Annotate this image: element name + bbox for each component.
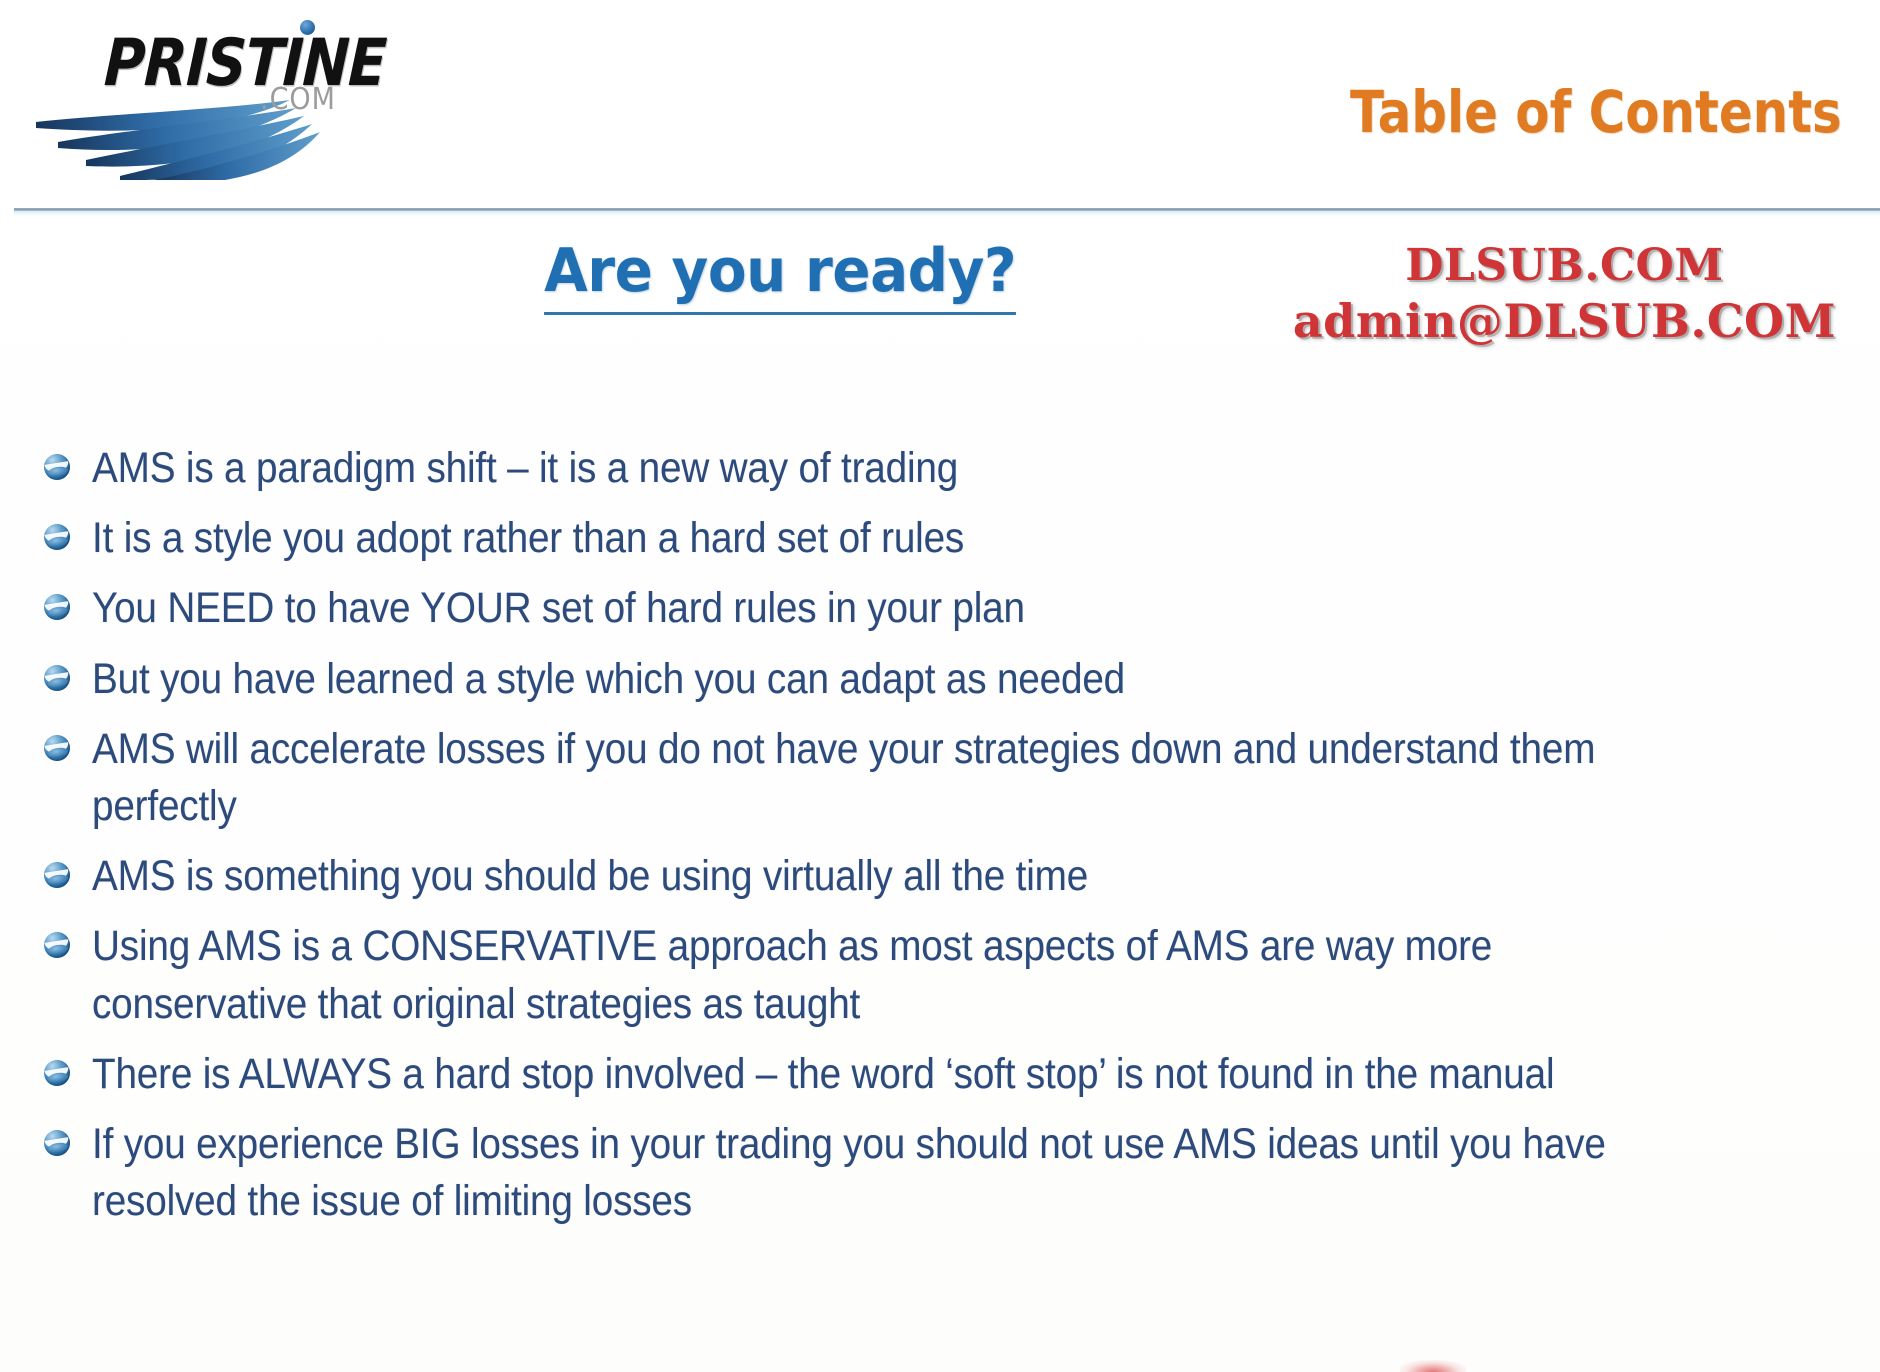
sphere-bullet-icon bbox=[44, 594, 70, 620]
header-title: Table of Contents bbox=[1350, 78, 1842, 146]
logo-wordmark: PRISTINE bbox=[103, 26, 388, 101]
watermark-bottom-remnant bbox=[1400, 1360, 1466, 1372]
list-item-label: AMS will accelerate losses if you do not… bbox=[92, 721, 1669, 835]
list-item-label: But you have learned a style which you c… bbox=[92, 651, 1669, 708]
list-item: AMS is something you should be using vir… bbox=[44, 848, 1844, 905]
list-item: There is ALWAYS a hard stop involved – t… bbox=[44, 1046, 1844, 1103]
list-item: You NEED to have YOUR set of hard rules … bbox=[44, 580, 1844, 637]
slide-title: Are you ready? bbox=[544, 236, 1016, 315]
list-item-label: You NEED to have YOUR set of hard rules … bbox=[92, 580, 1669, 637]
list-item-label: There is ALWAYS a hard stop involved – t… bbox=[92, 1046, 1669, 1103]
list-item: But you have learned a style which you c… bbox=[44, 651, 1844, 708]
sphere-bullet-icon bbox=[44, 1130, 70, 1156]
slide-title-container: Are you ready? bbox=[0, 236, 1560, 315]
sphere-bullet-icon bbox=[44, 735, 70, 761]
pristine-logo: PRISTINE .COM bbox=[28, 8, 448, 188]
list-item-label: AMS is something you should be using vir… bbox=[92, 848, 1669, 905]
list-item: If you experience BIG losses in your tra… bbox=[44, 1116, 1844, 1230]
list-item: AMS will accelerate losses if you do not… bbox=[44, 721, 1844, 835]
bullet-list: AMS is a paradigm shift – it is a new wa… bbox=[44, 440, 1844, 1243]
list-item-label: Using AMS is a CONSERVATIVE approach as … bbox=[92, 918, 1669, 1032]
sphere-bullet-icon bbox=[44, 454, 70, 480]
list-item-label: It is a style you adopt rather than a ha… bbox=[92, 510, 1669, 567]
sphere-bullet-icon bbox=[44, 665, 70, 691]
slide-header: PRISTINE .COM Table of Contents bbox=[0, 0, 1880, 212]
header-divider-glow bbox=[14, 211, 1880, 217]
sphere-bullet-icon bbox=[44, 524, 70, 550]
list-item: AMS is a paradigm shift – it is a new wa… bbox=[44, 440, 1844, 497]
list-item: It is a style you adopt rather than a ha… bbox=[44, 510, 1844, 567]
list-item-label: AMS is a paradigm shift – it is a new wa… bbox=[92, 440, 1669, 497]
logo-domain-suffix: .COM bbox=[260, 82, 336, 117]
sphere-bullet-icon bbox=[44, 1060, 70, 1086]
list-item: Using AMS is a CONSERVATIVE approach as … bbox=[44, 918, 1844, 1032]
sphere-bullet-icon bbox=[44, 932, 70, 958]
list-item-label: If you experience BIG losses in your tra… bbox=[92, 1116, 1669, 1230]
sphere-bullet-icon bbox=[44, 862, 70, 888]
